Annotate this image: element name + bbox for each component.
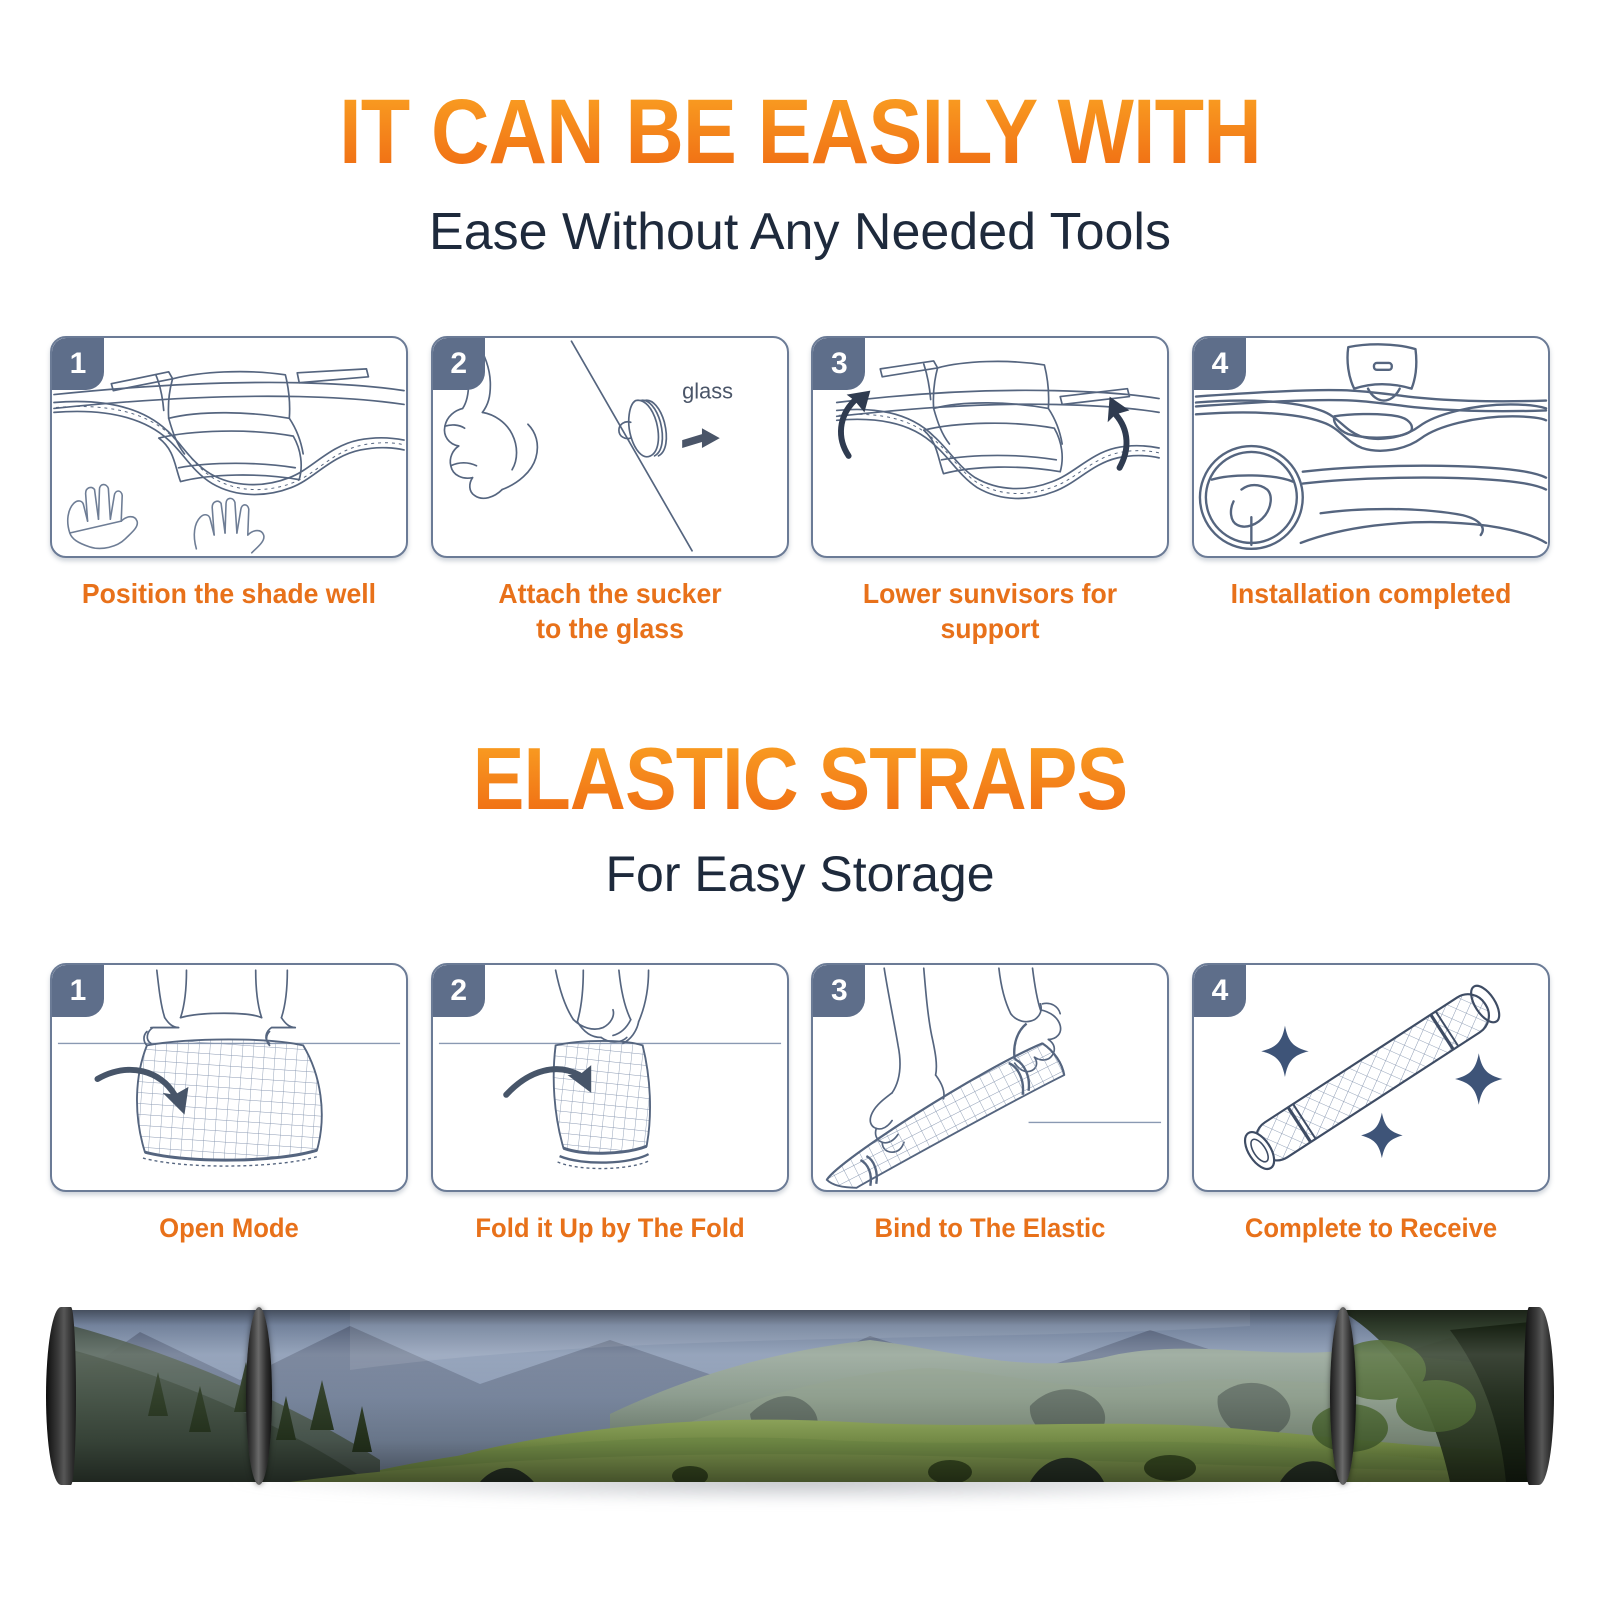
caption-line: to the glass xyxy=(440,611,780,646)
step-storage-1: 1 xyxy=(50,963,408,1246)
step-install-4: 4 xyxy=(1192,336,1550,646)
step-panel: 2 xyxy=(431,336,789,558)
step-number-badge: 3 xyxy=(813,965,865,1017)
step-number-badge: 3 xyxy=(813,338,865,390)
hands-holding-open-mesh-shade-illustration xyxy=(52,965,406,1190)
infographic-page: IT CAN BE EASILY WITH Ease Without Any N… xyxy=(0,0,1600,1600)
installation-heading-block: IT CAN BE EASILY WITH Ease Without Any N… xyxy=(0,86,1600,258)
hands-folding-shade-illustration xyxy=(433,965,787,1190)
step-caption: Installation completed xyxy=(1201,576,1541,611)
step-install-1: 1 xyxy=(50,336,408,646)
installed-shade-steering-wheel-illustration xyxy=(1194,338,1548,556)
sunvisors-lowering-arrows-illustration xyxy=(813,338,1167,556)
caption-line: Installation completed xyxy=(1201,576,1541,611)
storage-headline: ELASTIC STRAPS xyxy=(96,735,1504,823)
glass-label: glass xyxy=(682,379,733,404)
step-storage-3: 3 xyxy=(811,963,1169,1246)
caption-line: Bind to The Elastic xyxy=(820,1212,1160,1246)
storage-subhead: For Easy Storage xyxy=(0,849,1600,899)
elastic-strap-2 xyxy=(1330,1307,1356,1485)
step-storage-4: 4 xyxy=(1192,963,1550,1246)
installation-headline: IT CAN BE EASILY WITH xyxy=(96,86,1504,178)
step-storage-2: 2 xyxy=(431,963,789,1246)
step-number-badge: 2 xyxy=(433,338,485,390)
storage-steps-row: 1 xyxy=(50,963,1550,1246)
step-number-badge: 1 xyxy=(52,338,104,390)
step-number-badge: 2 xyxy=(433,965,485,1017)
installation-subhead: Ease Without Any Needed Tools xyxy=(0,206,1600,258)
step-number-badge: 1 xyxy=(52,965,104,1017)
rolled-shade-with-sparkles-illustration xyxy=(1194,965,1548,1190)
installation-steps-row: 1 xyxy=(50,336,1550,646)
step-number-badge: 4 xyxy=(1194,965,1246,1017)
caption-line: Attach the sucker xyxy=(440,576,780,611)
caption-line: Fold it Up by The Fold xyxy=(440,1212,780,1246)
step-number-badge: 4 xyxy=(1194,338,1246,390)
step-caption: Fold it Up by The Fold xyxy=(440,1212,780,1246)
caption-line: Open Mode xyxy=(59,1212,399,1246)
step-panel: 2 xyxy=(431,963,789,1192)
hands-binding-elastic-strap-illustration xyxy=(813,965,1167,1190)
rolled-sunshade-mountain-landscape-print xyxy=(50,1310,1550,1492)
step-caption: Complete to Receive xyxy=(1201,1212,1541,1246)
step-panel: 4 xyxy=(1192,336,1550,558)
step-panel: 3 xyxy=(811,963,1169,1192)
step-caption: Open Mode xyxy=(59,1212,399,1246)
step-caption: Position the shade well xyxy=(59,576,399,611)
elastic-endcap-right xyxy=(1524,1307,1554,1485)
direction-arrow xyxy=(682,428,720,448)
elastic-strap-1 xyxy=(246,1307,272,1485)
step-panel: 1 xyxy=(50,963,408,1192)
storage-heading-block: ELASTIC STRAPS For Easy Storage xyxy=(0,735,1600,899)
step-install-2: 2 xyxy=(431,336,789,646)
mountain-landscape-print xyxy=(50,1310,1550,1482)
step-caption: Attach the sucker to the glass xyxy=(440,576,780,646)
elastic-endcap-left xyxy=(46,1307,76,1485)
caption-line: support xyxy=(820,611,1160,646)
step-panel: 1 xyxy=(50,336,408,558)
step-caption: Bind to The Elastic xyxy=(820,1212,1160,1246)
step-install-3: 3 xyxy=(811,336,1169,646)
caption-line: Lower sunvisors for xyxy=(820,576,1160,611)
step-caption: Lower sunvisors for support xyxy=(820,576,1160,646)
caption-line: Complete to Receive xyxy=(1201,1212,1541,1246)
step-panel: 3 xyxy=(811,336,1169,558)
caption-line: Position the shade well xyxy=(59,576,399,611)
step-panel: 4 xyxy=(1192,963,1550,1192)
windshield-with-hands-illustration xyxy=(52,338,406,556)
product-roll-body xyxy=(50,1310,1550,1482)
hand-pressing-suction-cup-illustration: glass xyxy=(433,338,787,556)
